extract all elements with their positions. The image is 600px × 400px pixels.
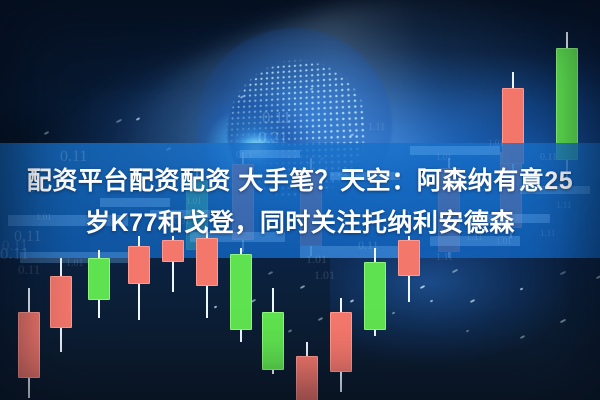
candlestick <box>50 258 72 352</box>
candlestick <box>296 342 318 400</box>
price-number: 0.11 <box>18 262 40 278</box>
candlestick <box>262 288 284 374</box>
promo-banner: 0.110.211.110.111.010.110.111.010.112.11… <box>0 0 600 400</box>
candlestick <box>230 248 252 342</box>
candlestick <box>88 250 110 318</box>
headline-line-1: 配资平台配资配资 大手笔？天空：阿森纳有意25 <box>27 160 573 202</box>
price-number: 0.11 <box>262 108 291 128</box>
candle-body <box>230 254 252 330</box>
candle-body <box>88 258 110 300</box>
candle-body <box>50 276 72 328</box>
candle-body <box>330 312 352 372</box>
headline: 配资平台配资配资 大手笔？天空：阿森纳有意25 岁K77和戈登，同时关注托纳利安… <box>0 150 600 254</box>
price-number: 1.01 <box>314 268 335 283</box>
price-number: 0.21 <box>258 128 288 148</box>
candle-body <box>296 356 318 400</box>
candle-body <box>364 262 386 330</box>
headline-line-2: 岁K77和戈登，同时关注托纳利安德森 <box>85 202 515 244</box>
candlestick <box>18 288 40 398</box>
candlestick <box>330 298 352 392</box>
candlestick <box>364 248 386 336</box>
candle-body <box>18 312 40 378</box>
candle-body <box>262 312 284 370</box>
price-number: 1.11 <box>368 122 385 133</box>
